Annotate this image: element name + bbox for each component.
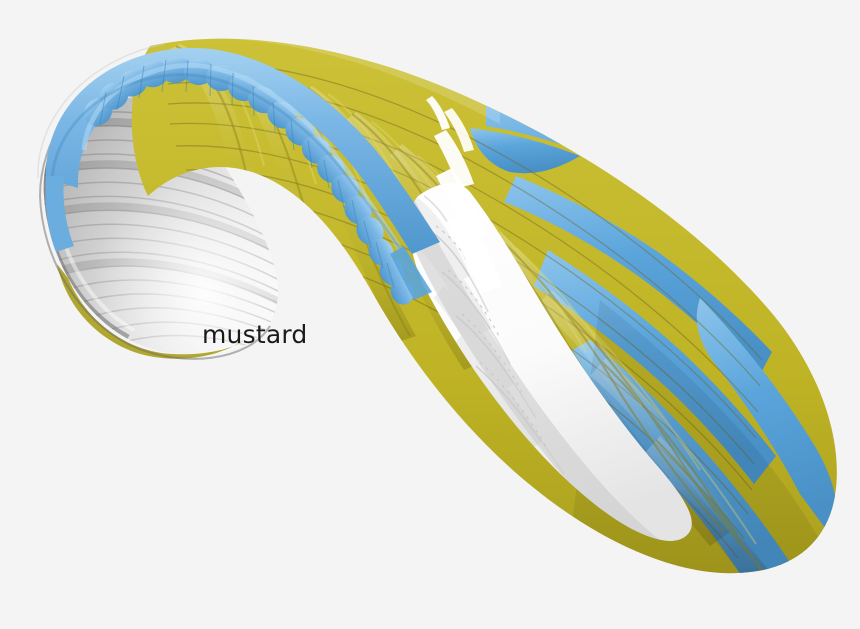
paraglider-illustration — [0, 0, 860, 629]
image-canvas: mustard — [0, 0, 860, 629]
caption-label: mustard — [202, 322, 307, 347]
